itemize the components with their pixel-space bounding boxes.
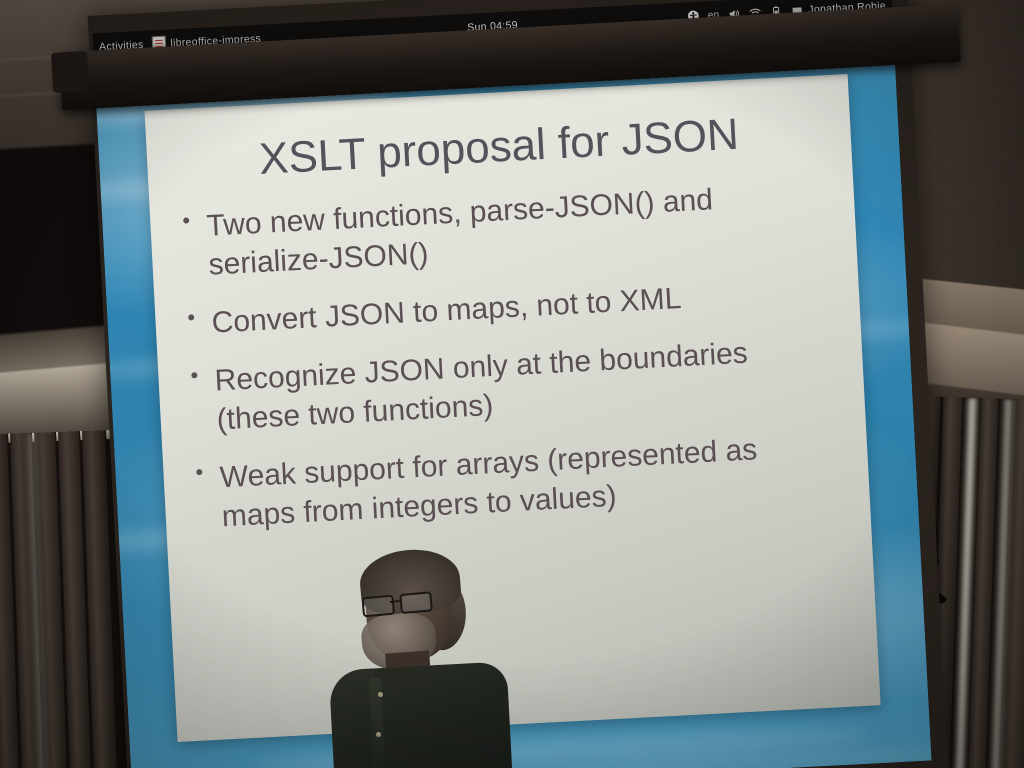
window-blinds-left [0, 430, 126, 768]
presenter-collar [373, 666, 432, 692]
photo-scene: Activities libreoffice-impress Sun 04:59… [0, 0, 1024, 768]
projection-screen-roller-end [51, 51, 89, 93]
presenter [300, 540, 560, 768]
slide-bullet: Two new functions, parse-JSON() and seri… [180, 176, 827, 286]
slide-bullet: Recognize JSON only at the boundaries (t… [188, 331, 835, 441]
slide-bullet: Weak support for arrays (represented as … [193, 427, 840, 537]
slide-title: XSLT proposal for JSON [176, 108, 822, 188]
slide-bullet-list: Two new functions, parse-JSON() and seri… [180, 176, 840, 538]
slide-bullet: Convert JSON to maps, not to XML [185, 272, 830, 344]
